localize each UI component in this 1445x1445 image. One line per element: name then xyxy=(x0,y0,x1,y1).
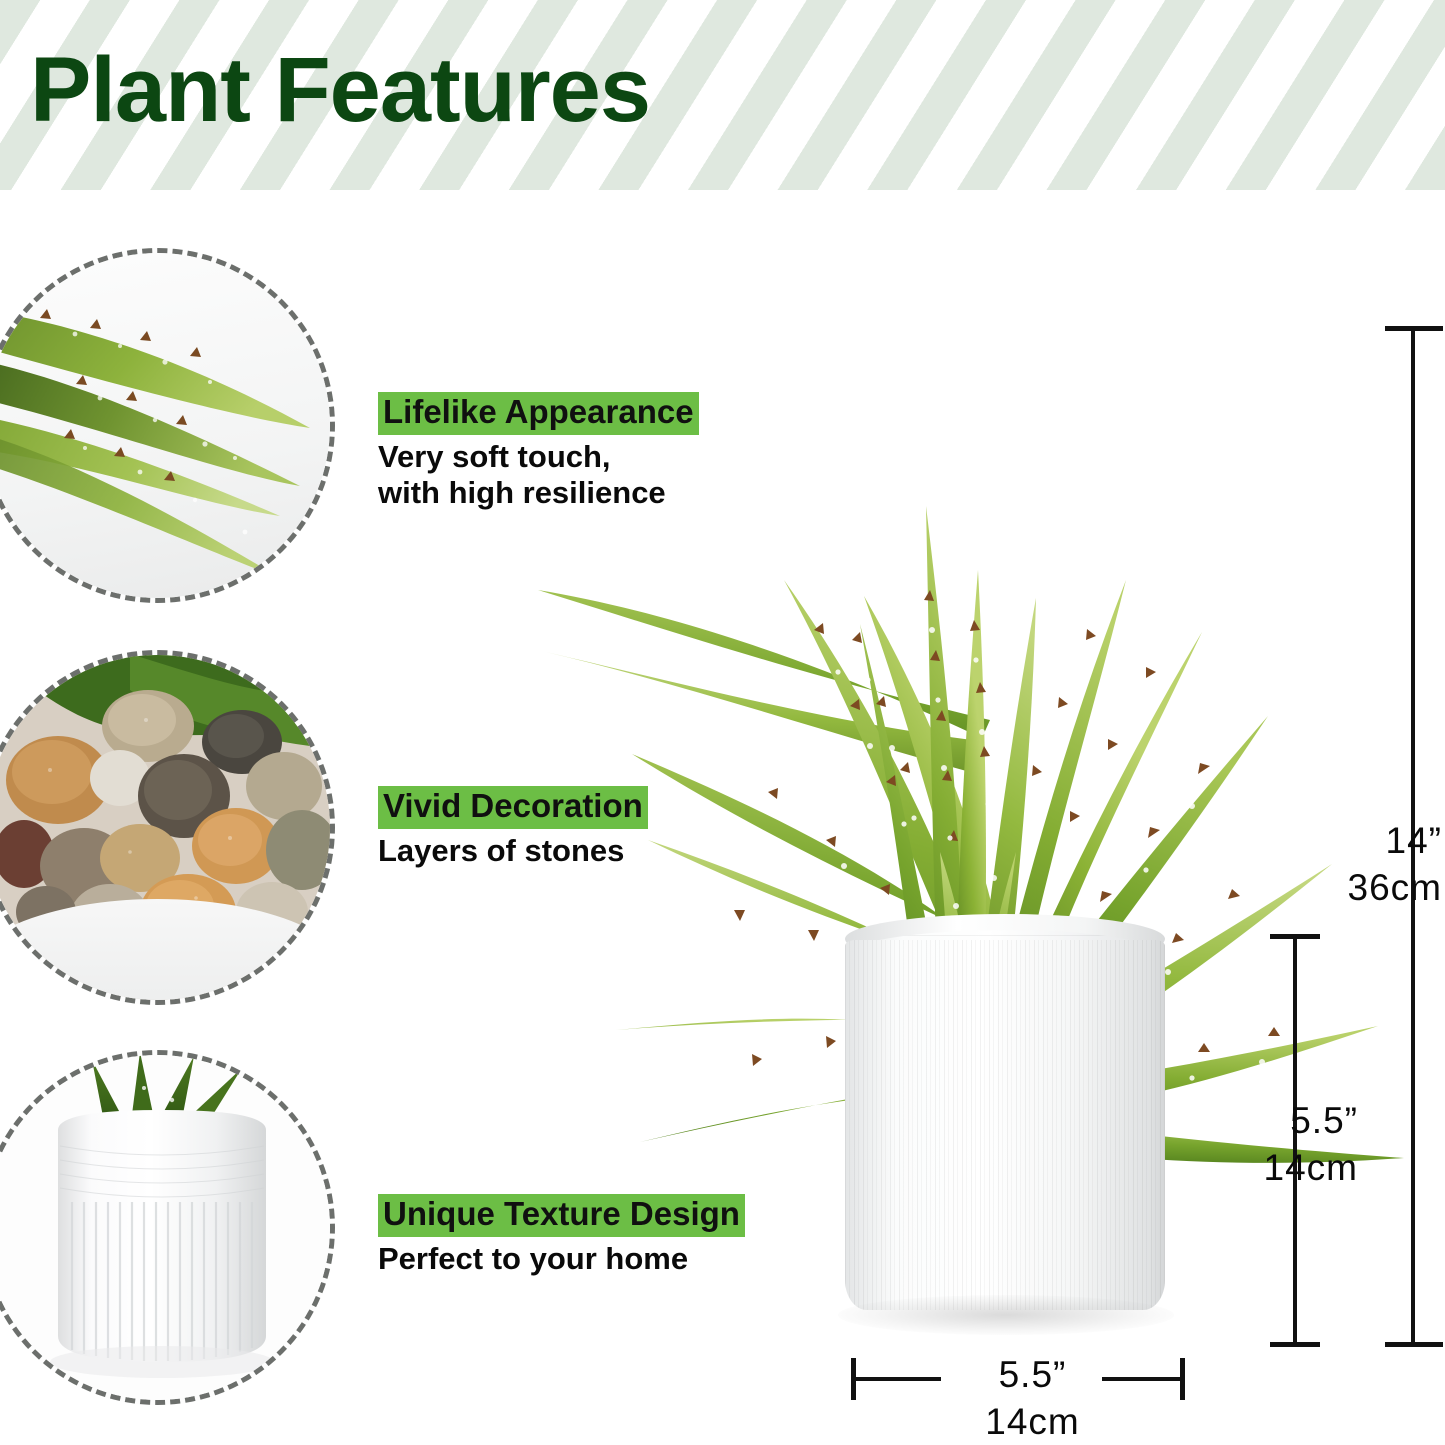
circle-image-stones xyxy=(0,650,335,1005)
pot-width-right-cap xyxy=(1180,1358,1185,1400)
pot-width-line-left xyxy=(851,1377,941,1381)
pot-closeup-illustration xyxy=(0,1050,335,1405)
header-banner: Plant Features xyxy=(0,0,1445,190)
page-title: Plant Features xyxy=(30,44,650,136)
pot-width-label: 5.5” 14cm xyxy=(955,1352,1110,1445)
callout-circle-unique-texture-design xyxy=(0,1050,335,1405)
pot-height-label: 5.5” 14cm xyxy=(1232,1098,1358,1191)
pot-shadow xyxy=(838,1295,1174,1335)
leaf-macro-illustration xyxy=(0,248,335,603)
pot-ribbed-body xyxy=(845,940,1165,1310)
total-height-label: 14” 36cm xyxy=(1330,818,1442,911)
pot-height-bottom-cap xyxy=(1270,1342,1320,1347)
callout-circle-lifelike-appearance xyxy=(0,248,335,603)
circle-image-leaves xyxy=(0,248,335,603)
pot-width-line-right xyxy=(1102,1377,1184,1381)
circle-image-pot xyxy=(0,1050,335,1405)
callout-circle-vivid-decoration xyxy=(0,650,335,1005)
product-image-aloe-in-pot xyxy=(520,300,1420,1370)
total-height-bottom-cap xyxy=(1385,1342,1443,1347)
